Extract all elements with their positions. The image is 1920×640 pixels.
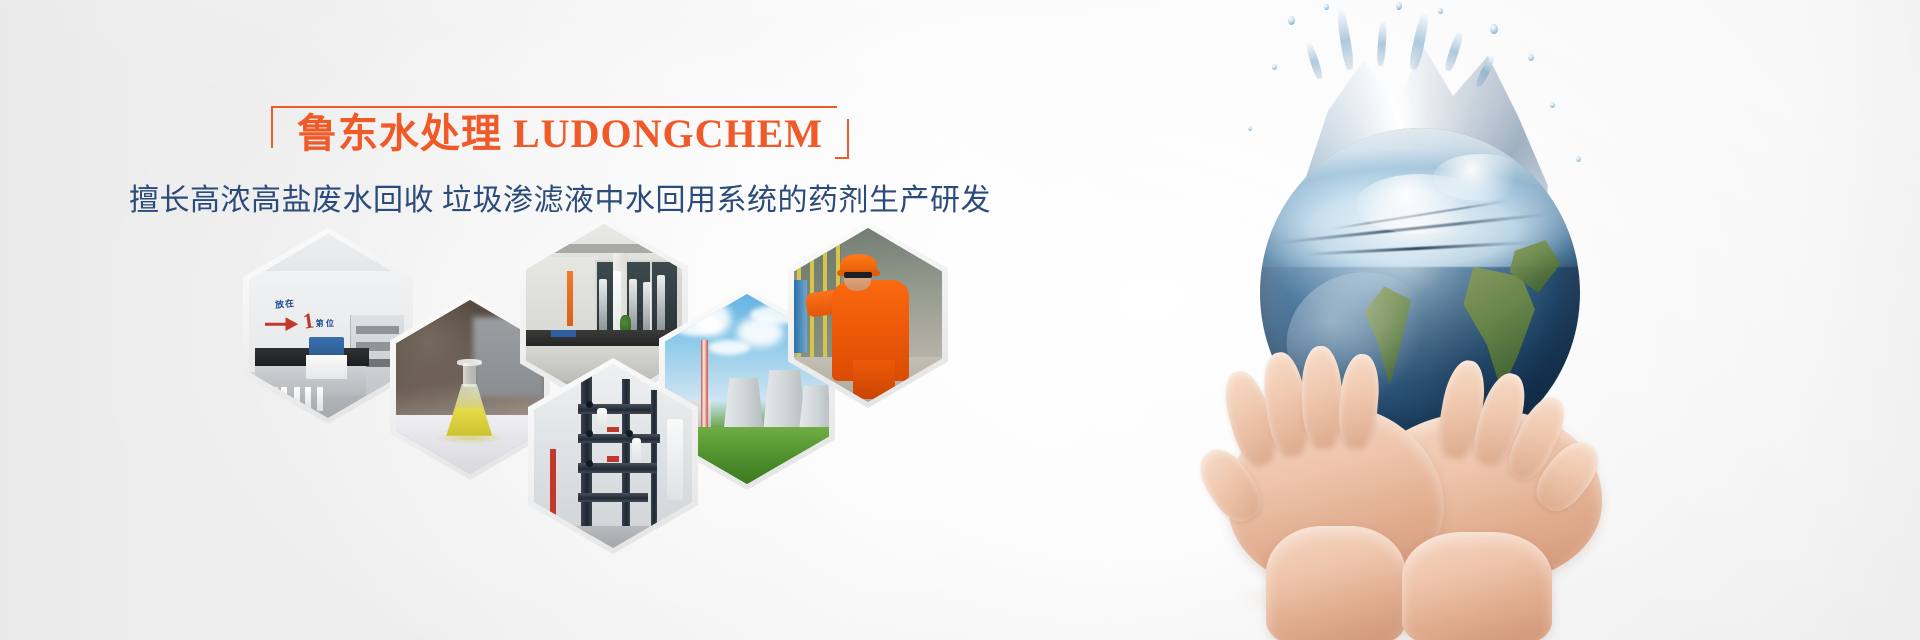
headline-block: 鲁东水处理 LUDONGCHEM 擅长高浓高盐废水回收 垃圾渗滤液中水回用系统的… xyxy=(0,96,1120,219)
slogan-number: 1 xyxy=(301,309,315,332)
water-splash-earth-globe xyxy=(1140,0,1920,640)
wall-slogan: 放在 1 第 位 xyxy=(265,300,338,340)
slogan-line-1: 放在 xyxy=(275,299,296,310)
slogan-arrow-icon xyxy=(265,317,298,331)
corner-bracket-right-icon xyxy=(835,119,849,159)
title-wrapper: 鲁东水处理 LUDONGCHEM xyxy=(271,96,849,161)
page-title: 鲁东水处理 LUDONGCHEM xyxy=(297,102,823,157)
cupped-hands xyxy=(1174,376,1644,640)
wrist-right xyxy=(1402,532,1552,640)
title-top-rule xyxy=(283,106,837,108)
page-subtitle: 擅长高浓高盐废水回收 垃圾渗滤液中水回用系统的药剂生产研发 xyxy=(0,175,1120,219)
corner-bracket-left-icon xyxy=(271,106,285,148)
slogan-line-2: 第 位 xyxy=(316,320,334,328)
wrist-left xyxy=(1266,526,1406,640)
hero-banner: 放在 1 第 位 xyxy=(0,0,1920,640)
